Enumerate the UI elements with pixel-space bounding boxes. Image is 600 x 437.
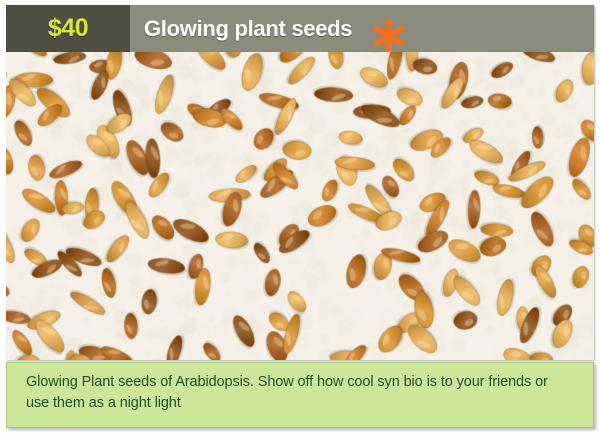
price-box: $40 bbox=[6, 5, 130, 52]
slide-root: $40 Glowing plant seeds Glowing Plant se… bbox=[0, 0, 600, 437]
asterisk-icon bbox=[369, 16, 409, 52]
header-bar: $40 Glowing plant seeds bbox=[6, 5, 594, 52]
price-label: $40 bbox=[6, 5, 130, 52]
caption-text: Glowing Plant seeds of Arabidopsis. Show… bbox=[26, 372, 574, 414]
arabidopsis-seeds-photo bbox=[6, 52, 594, 360]
page-title: Glowing plant seeds bbox=[144, 5, 352, 52]
caption-box: Glowing Plant seeds of Arabidopsis. Show… bbox=[6, 362, 594, 428]
seed-photo-canvas bbox=[6, 52, 594, 360]
